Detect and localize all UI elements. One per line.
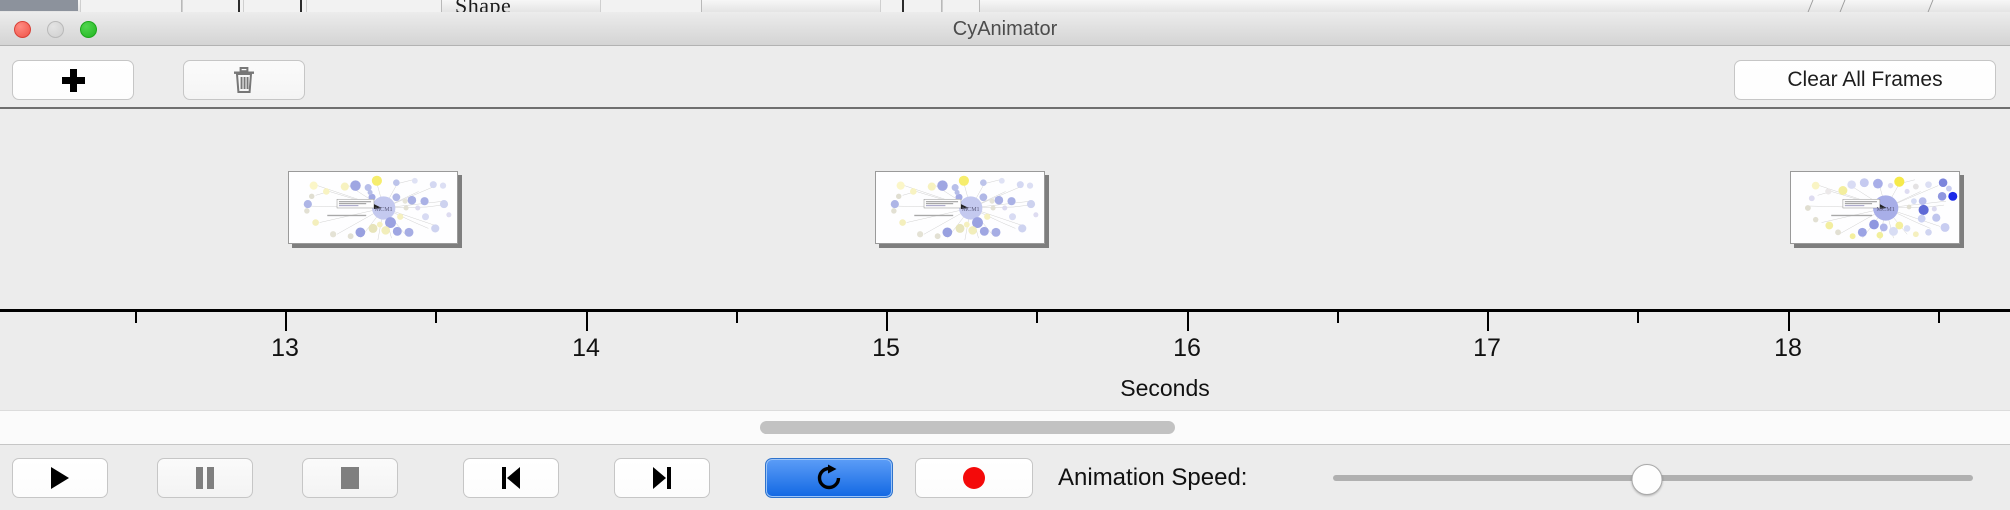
timeline-frame[interactable]: MCM1 (875, 171, 1045, 244)
background-chunk (942, 0, 980, 12)
svg-text:MCM1: MCM1 (962, 207, 980, 213)
frame-thumbnail: MCM1 (288, 171, 458, 244)
ruler-minor-tick (435, 312, 437, 323)
ruler-minor-tick (1337, 312, 1339, 323)
background-chunk (80, 0, 182, 12)
record-icon (961, 465, 987, 491)
ruler-major-tick (1487, 312, 1489, 331)
timeline-scrollbar-track[interactable] (0, 410, 2010, 445)
ruler-label: 14 (572, 334, 600, 363)
background-window-sliver: Shape (0, 0, 2010, 12)
background-tick (300, 0, 302, 12)
frame-thumbnail: MCM1 (875, 171, 1045, 244)
ruler-major-tick (886, 312, 888, 331)
loop-icon (815, 464, 843, 492)
timeline-frame[interactable]: MCM1 (1790, 171, 1960, 244)
svg-text:MCM1: MCM1 (375, 207, 393, 213)
background-tick (902, 0, 904, 12)
animation-speed-label: Animation Speed: (1058, 446, 1247, 510)
ruler-minor-tick (1637, 312, 1639, 323)
timeline-scrollbar-thumb[interactable] (760, 421, 1175, 434)
network-thumbnail-pale: MCM1 (876, 172, 1044, 243)
play-button[interactable] (12, 458, 108, 498)
ruler-minor-tick (736, 312, 738, 323)
skip-back-icon (499, 465, 523, 491)
ruler-major-tick (1788, 312, 1790, 331)
cyanimator-window: Shape CyAnimator Clear All Frames (0, 0, 2010, 510)
ruler-label: 13 (271, 334, 299, 363)
background-chunk (243, 0, 307, 12)
loop-button[interactable] (765, 458, 893, 498)
ruler-minor-tick (1036, 312, 1038, 323)
timeline-panel[interactable]: MCM1 (0, 109, 2010, 410)
ruler-label: 15 (872, 334, 900, 363)
slider-thumb[interactable] (1632, 464, 1663, 495)
skip-end-button[interactable] (614, 458, 710, 498)
network-thumbnail-saturated: MCM1 (1791, 172, 1959, 243)
background-diagonal (1928, 0, 1934, 12)
background-chunk (600, 0, 702, 12)
stop-button[interactable] (302, 458, 398, 498)
background-diagonal (1808, 0, 1814, 12)
ruler-major-tick (586, 312, 588, 331)
ruler-label: 18 (1774, 334, 1802, 363)
toolbar: Clear All Frames (0, 46, 2010, 109)
background-titlebar-fragment (0, 0, 78, 11)
background-diagonal (1840, 0, 1846, 12)
background-tick (238, 0, 240, 12)
add-frame-button[interactable] (12, 60, 134, 100)
pause-icon (194, 465, 216, 491)
ruler-label: 16 (1173, 334, 1201, 363)
background-chunk (880, 0, 942, 12)
background-chunk (306, 0, 442, 12)
window-title: CyAnimator (0, 12, 2010, 46)
timeline-frame[interactable]: MCM1 (288, 171, 458, 244)
skip-start-button[interactable] (463, 458, 559, 498)
timeline-axis-title: Seconds (1120, 375, 1210, 402)
network-thumbnail-pale: MCM1 (289, 172, 457, 243)
playback-control-bar: Animation Speed: (0, 446, 2010, 510)
background-chunk (182, 0, 244, 12)
ruler-minor-tick (135, 312, 137, 323)
skip-forward-icon (650, 465, 674, 491)
ruler-minor-tick (1938, 312, 1940, 323)
clear-all-frames-button[interactable]: Clear All Frames (1734, 60, 1996, 100)
play-icon (48, 465, 72, 491)
background-window-label: Shape (455, 0, 511, 12)
animation-speed-slider[interactable] (1333, 446, 1973, 510)
timeline-ruler-line (0, 309, 2010, 312)
frame-thumbnail: MCM1 (1790, 171, 1960, 244)
plus-icon (61, 68, 85, 92)
stop-icon (339, 466, 361, 490)
trash-icon (233, 67, 255, 93)
clear-all-frames-label: Clear All Frames (1787, 68, 1942, 92)
titlebar: CyAnimator (0, 12, 2010, 46)
delete-frame-button[interactable] (183, 60, 305, 100)
ruler-major-tick (1187, 312, 1189, 331)
ruler-major-tick (285, 312, 287, 331)
ruler-label: 17 (1473, 334, 1501, 363)
record-button[interactable] (915, 458, 1033, 498)
pause-button[interactable] (157, 458, 253, 498)
svg-text:MCM1: MCM1 (1877, 206, 1895, 213)
